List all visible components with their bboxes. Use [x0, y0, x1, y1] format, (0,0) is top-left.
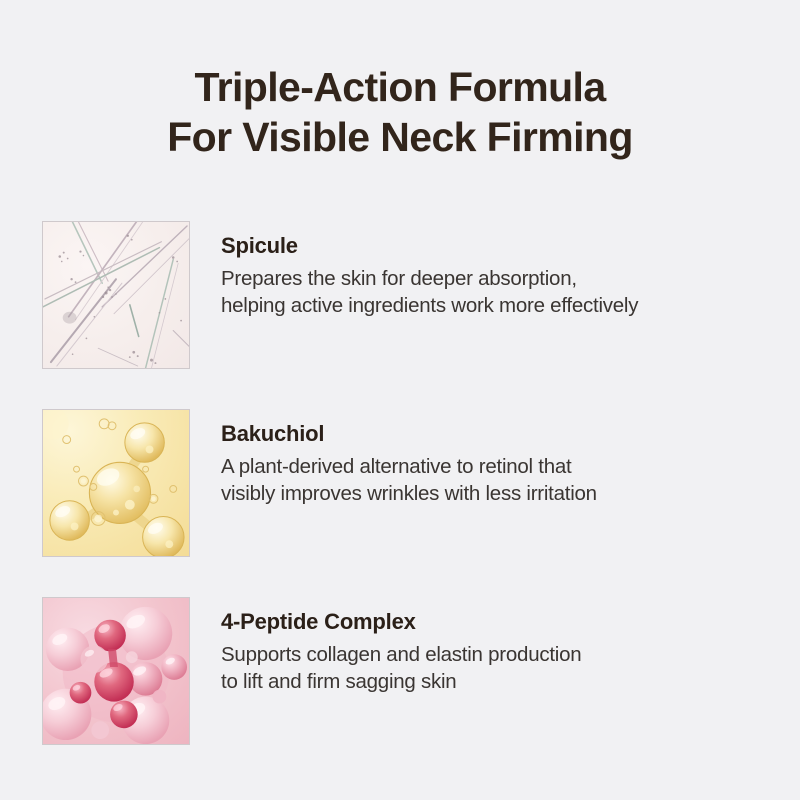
ingredient-desc-line-1: Supports collagen and elastin production: [221, 641, 581, 668]
oil-bubble-molecule-graphic: [43, 410, 189, 556]
spicule-microscopy-image: [42, 221, 190, 369]
ingredient-desc-line-2: to lift and firm sagging skin: [221, 668, 581, 695]
spicule-fibers-graphic: [43, 222, 189, 368]
peptide-text-block: 4-Peptide Complex Supports collagen and …: [221, 597, 581, 695]
spicule-text-block: Spicule Prepares the skin for deeper abs…: [221, 221, 638, 319]
ingredient-name: Bakuchiol: [221, 420, 597, 448]
title-line-2: For Visible Neck Firming: [0, 112, 800, 162]
ingredient-desc-line-1: A plant-derived alternative to retinol t…: [221, 453, 597, 480]
bakuchiol-text-block: Bakuchiol A plant-derived alternative to…: [221, 409, 597, 507]
ingredient-name: 4-Peptide Complex: [221, 608, 581, 636]
peptide-bubbles-image: [42, 597, 190, 745]
bakuchiol-oil-bubbles-image: [42, 409, 190, 557]
infographic-page: Triple-Action Formula For Visible Neck F…: [0, 0, 800, 800]
title-line-1: Triple-Action Formula: [0, 62, 800, 112]
ingredient-row-spicule: Spicule Prepares the skin for deeper abs…: [42, 221, 772, 369]
ingredient-desc-line-2: helping active ingredients work more eff…: [221, 292, 638, 319]
ingredient-name: Spicule: [221, 232, 638, 260]
page-title: Triple-Action Formula For Visible Neck F…: [0, 62, 800, 162]
ingredient-desc-line-2: visibly improves wrinkles with less irri…: [221, 480, 597, 507]
ingredient-row-bakuchiol: Bakuchiol A plant-derived alternative to…: [42, 409, 772, 557]
ingredient-row-peptide: 4-Peptide Complex Supports collagen and …: [42, 597, 772, 745]
peptide-bubble-cluster-graphic: [43, 598, 189, 744]
ingredient-desc-line-1: Prepares the skin for deeper absorption,: [221, 265, 638, 292]
ingredient-list: Spicule Prepares the skin for deeper abs…: [42, 221, 772, 745]
